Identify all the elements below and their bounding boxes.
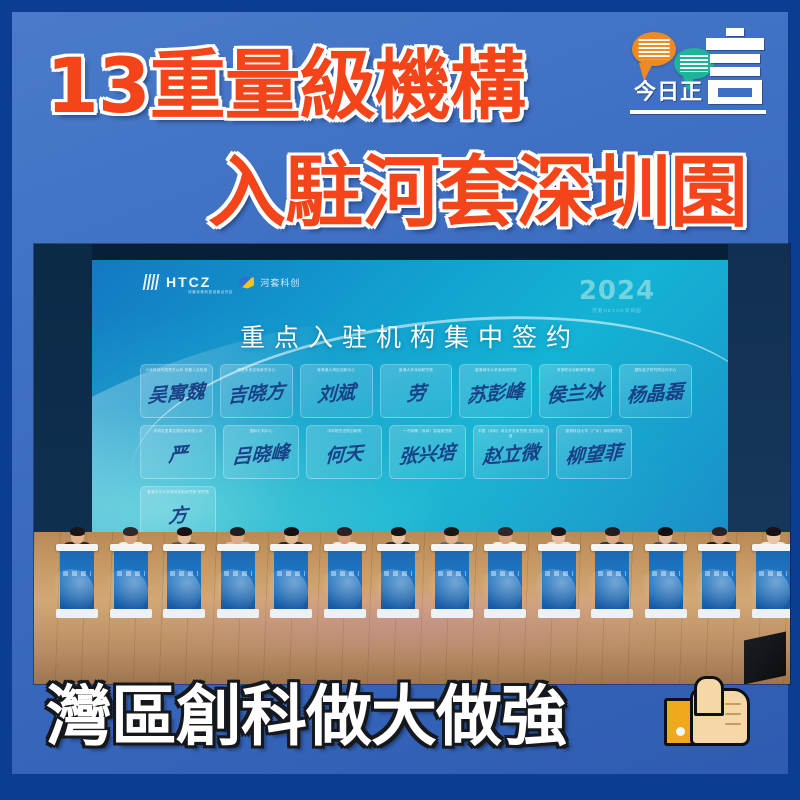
person-figure bbox=[704, 529, 734, 614]
signature-card: 国际汇科中心吕晓峰 bbox=[223, 425, 299, 479]
podium bbox=[542, 544, 576, 618]
person-head bbox=[338, 529, 351, 544]
hall-ceiling bbox=[34, 244, 790, 260]
person-head bbox=[71, 529, 84, 544]
person-figure bbox=[169, 529, 199, 614]
hall-right-wall bbox=[728, 244, 790, 534]
person-head bbox=[392, 529, 405, 544]
hall-left-wall bbox=[34, 244, 92, 534]
signature-org: 一汽奔腾（深圳）智能研究院 bbox=[393, 429, 461, 438]
brand-logo[interactable]: 今日正 bbox=[630, 26, 766, 122]
person-figure bbox=[330, 529, 360, 614]
person-head bbox=[231, 529, 244, 544]
person-hair bbox=[551, 527, 566, 536]
signature-org: 香港大学深圳研究院 bbox=[384, 368, 449, 377]
led-screen: HTCZ 河套深港科技创新合作区 河套科创 2024 河套HETAO深圳园 重点… bbox=[92, 260, 728, 532]
person-head bbox=[552, 529, 565, 544]
signature-org: 中国（深圳）综合开发研究院 先进实验室 bbox=[477, 429, 545, 438]
social-card: 13重量級機構 入駐河套深圳園 今日正 bbox=[0, 0, 800, 800]
screen-title: 重点入驻机构集中签约 bbox=[92, 318, 728, 354]
person-hair bbox=[444, 527, 459, 536]
signature-mark: 吕晓峰 bbox=[224, 437, 299, 471]
signature-org: 国际量子研究院合作中心 bbox=[623, 368, 688, 377]
person-figure bbox=[383, 529, 413, 614]
person-head bbox=[499, 529, 512, 544]
speech-bubble-orange-icon bbox=[632, 32, 676, 66]
footer-slogan: 灣區創科做大做強 bbox=[46, 684, 566, 750]
hetao-logo: 河套科创 bbox=[239, 276, 300, 289]
signature-org: 恒昌未来实验研究中心 bbox=[224, 368, 289, 377]
person-hair bbox=[177, 527, 192, 536]
person-hair bbox=[391, 527, 406, 536]
person-hair bbox=[766, 527, 781, 536]
event-photo: HTCZ 河套深港科技创新合作区 河套科创 2024 河套HETAO深圳园 重点… bbox=[34, 244, 790, 684]
screen-year: 2024 bbox=[578, 276, 656, 306]
person-hair bbox=[70, 527, 85, 536]
podium bbox=[756, 544, 790, 618]
signature-org: 香港科技大学（广州）深圳研究院 bbox=[560, 429, 628, 438]
brand-underline bbox=[630, 110, 766, 114]
signature-mark: 柳望菲 bbox=[556, 437, 631, 471]
signature-org: 小米科技有限责任公司 机器人实验室 bbox=[144, 368, 209, 377]
signature-card: 深港联合创新研究基地侯兰冰 bbox=[539, 364, 612, 418]
signature-card: 香港大学深圳研究院劳 bbox=[380, 364, 453, 418]
signature-mark: 劳 bbox=[380, 376, 452, 409]
signature-org: 香港城市大学深圳研究院 bbox=[463, 368, 528, 377]
person-figure bbox=[116, 529, 146, 614]
person-hair bbox=[123, 527, 138, 536]
headline-line-1: 13重量級機構 bbox=[46, 48, 525, 124]
podium bbox=[274, 544, 308, 618]
thumbs-up-icon bbox=[664, 680, 748, 746]
signature-mark: 何天 bbox=[307, 437, 382, 471]
screen-year-sub: 河套HETAO深圳园 bbox=[578, 308, 656, 314]
person-head bbox=[659, 529, 672, 544]
signature-row-1: 小米科技有限责任公司 机器人实验室吴寓魏恒昌未来实验研究中心吉晓方粤港澳大湾区创… bbox=[140, 364, 692, 418]
signature-card: 粤港澳大湾区创新中心刘斌 bbox=[300, 364, 373, 418]
person-hair bbox=[712, 527, 727, 536]
screen-year-badge: 2024 河套HETAO深圳园 bbox=[578, 276, 656, 314]
signature-mark: 严 bbox=[140, 437, 215, 471]
signature-card: 小米科技有限责任公司 机器人实验室吴寓魏 bbox=[140, 364, 213, 418]
person-head bbox=[178, 529, 191, 544]
podium bbox=[221, 544, 255, 618]
signature-card: 香港科技大学（广州）深圳研究院柳望菲 bbox=[556, 425, 632, 479]
screen-logo-row: HTCZ 河套深港科技创新合作区 河套科创 bbox=[144, 274, 300, 290]
person-hair bbox=[498, 527, 513, 536]
signature-mark: 杨晶磊 bbox=[620, 376, 692, 409]
person-hair bbox=[337, 527, 352, 536]
person-figure bbox=[758, 529, 788, 614]
person-figure bbox=[437, 529, 467, 614]
person-head bbox=[767, 529, 780, 544]
signature-org: 深圳贝里泰生物技术有限公司 bbox=[144, 429, 212, 438]
podium bbox=[649, 544, 683, 618]
signature-org: 国际汇科中心 bbox=[227, 429, 295, 438]
person-hair bbox=[605, 527, 620, 536]
signature-org: 粤港澳大湾区创新中心 bbox=[304, 368, 369, 377]
signature-card: 国际量子研究院合作中心杨晶磊 bbox=[619, 364, 692, 418]
person-head bbox=[285, 529, 298, 544]
yan-character-mark-icon bbox=[704, 28, 766, 106]
person-figure bbox=[490, 529, 520, 614]
footer-band bbox=[0, 774, 800, 800]
podium bbox=[488, 544, 522, 618]
person-head bbox=[445, 529, 458, 544]
signature-mark: 赵立微 bbox=[473, 437, 548, 471]
person-figure bbox=[597, 529, 627, 614]
signature-card: 中国（深圳）综合开发研究院 先进实验室赵立微 bbox=[473, 425, 549, 479]
person-head bbox=[124, 529, 137, 544]
podium bbox=[381, 544, 415, 618]
person-figure bbox=[276, 529, 306, 614]
podium bbox=[702, 544, 736, 618]
headline-line-2: 入駐河套深圳園 bbox=[208, 154, 747, 232]
hetao-logo-text: 河套科创 bbox=[260, 276, 300, 289]
signature-card: 香港城市大学深圳研究院苏彭峰 bbox=[459, 364, 532, 418]
footer-block: 灣區創科做大做強 bbox=[12, 664, 788, 754]
signature-mark: 侯兰冰 bbox=[540, 376, 612, 409]
podium bbox=[435, 544, 469, 618]
brand-name: 今日正 bbox=[634, 74, 703, 106]
person-head bbox=[713, 529, 726, 544]
signature-card: 恒昌未来实验研究中心吉晓方 bbox=[220, 364, 293, 418]
hetao-mark-icon bbox=[239, 276, 254, 289]
signature-org: 中科院先进院创新院 bbox=[310, 429, 378, 438]
htcz-logo-sub: 河套深港科技创新合作区 bbox=[188, 290, 233, 295]
signature-card: 中科院先进院创新院何天 bbox=[306, 425, 382, 479]
signature-mark: 吉晓方 bbox=[220, 376, 292, 409]
people-row bbox=[34, 510, 790, 650]
podium bbox=[60, 544, 94, 618]
signature-org: 香港中文大学深圳创新研究院 研究院 bbox=[144, 490, 212, 499]
podium bbox=[328, 544, 362, 618]
podium bbox=[114, 544, 148, 618]
person-head bbox=[606, 529, 619, 544]
person-figure bbox=[62, 529, 92, 614]
signature-card: 一汽奔腾（深圳）智能研究院张兴培 bbox=[389, 425, 465, 479]
person-figure bbox=[223, 529, 253, 614]
signature-mark: 张兴培 bbox=[390, 437, 465, 471]
htcz-mark-icon bbox=[143, 274, 162, 290]
person-figure bbox=[544, 529, 574, 614]
signature-mark: 刘斌 bbox=[300, 376, 372, 409]
htcz-logo: HTCZ 河套深港科技创新合作区 bbox=[144, 274, 211, 290]
person-figure bbox=[651, 529, 681, 614]
person-hair bbox=[230, 527, 245, 536]
person-hair bbox=[284, 527, 299, 536]
signature-mark: 吴寓魏 bbox=[140, 376, 212, 409]
signature-card: 深圳贝里泰生物技术有限公司严 bbox=[140, 425, 216, 479]
podium bbox=[167, 544, 201, 618]
signature-mark: 苏彭峰 bbox=[460, 376, 532, 409]
htcz-logo-text: HTCZ bbox=[166, 274, 211, 290]
podium bbox=[595, 544, 629, 618]
card-inner-background: 13重量級機構 入駐河套深圳園 今日正 bbox=[12, 12, 788, 788]
person-hair bbox=[658, 527, 673, 536]
signature-org: 深港联合创新研究基地 bbox=[543, 368, 608, 377]
